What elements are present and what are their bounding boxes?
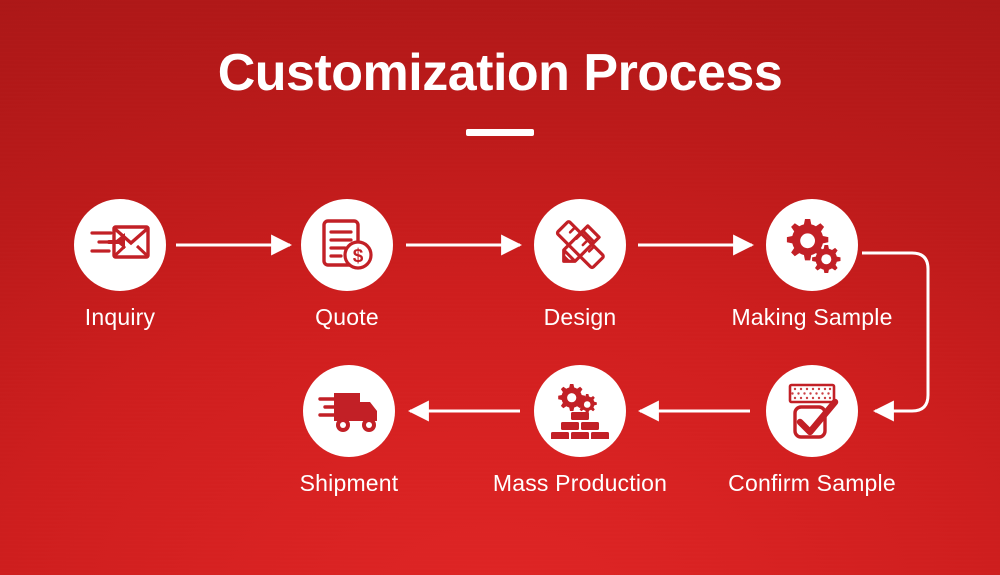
step-inquiry-disc[interactable] bbox=[74, 199, 166, 291]
step-confirm-sample[interactable]: Confirm Sample bbox=[712, 365, 912, 497]
page-title: Customization Process bbox=[0, 46, 1000, 101]
bricks-gears-icon bbox=[550, 383, 610, 439]
step-shipment[interactable]: Shipment bbox=[249, 365, 449, 497]
step-shipment-disc[interactable] bbox=[303, 365, 395, 457]
delivery-truck-icon bbox=[318, 387, 380, 435]
step-mass-production[interactable]: Mass Production bbox=[480, 365, 680, 497]
step-making-sample[interactable]: Making Sample bbox=[712, 199, 912, 331]
step-quote-label: Quote bbox=[247, 304, 447, 331]
step-inquiry[interactable]: Inquiry bbox=[20, 199, 220, 331]
title-divider bbox=[466, 129, 534, 136]
envelope-speed-icon bbox=[89, 219, 151, 271]
gears-icon bbox=[782, 217, 842, 273]
pencil-ruler-icon bbox=[551, 216, 609, 274]
checkbox-swatch-icon bbox=[781, 382, 843, 440]
step-confirm-sample-label: Confirm Sample bbox=[712, 470, 912, 497]
step-inquiry-label: Inquiry bbox=[20, 304, 220, 331]
step-design-disc[interactable] bbox=[534, 199, 626, 291]
step-making-sample-label: Making Sample bbox=[712, 304, 912, 331]
step-quote[interactable]: $ Quote bbox=[247, 199, 447, 331]
step-quote-disc[interactable]: $ bbox=[301, 199, 393, 291]
svg-text:$: $ bbox=[353, 246, 364, 267]
step-confirm-sample-disc[interactable] bbox=[766, 365, 858, 457]
step-making-sample-disc[interactable] bbox=[766, 199, 858, 291]
customization-process-infographic: Customization Process bbox=[0, 0, 1000, 575]
step-mass-production-label: Mass Production bbox=[480, 470, 680, 497]
step-shipment-label: Shipment bbox=[249, 470, 449, 497]
invoice-dollar-icon: $ bbox=[319, 217, 375, 273]
step-design[interactable]: Design bbox=[480, 199, 680, 331]
step-mass-production-disc[interactable] bbox=[534, 365, 626, 457]
step-design-label: Design bbox=[480, 304, 680, 331]
